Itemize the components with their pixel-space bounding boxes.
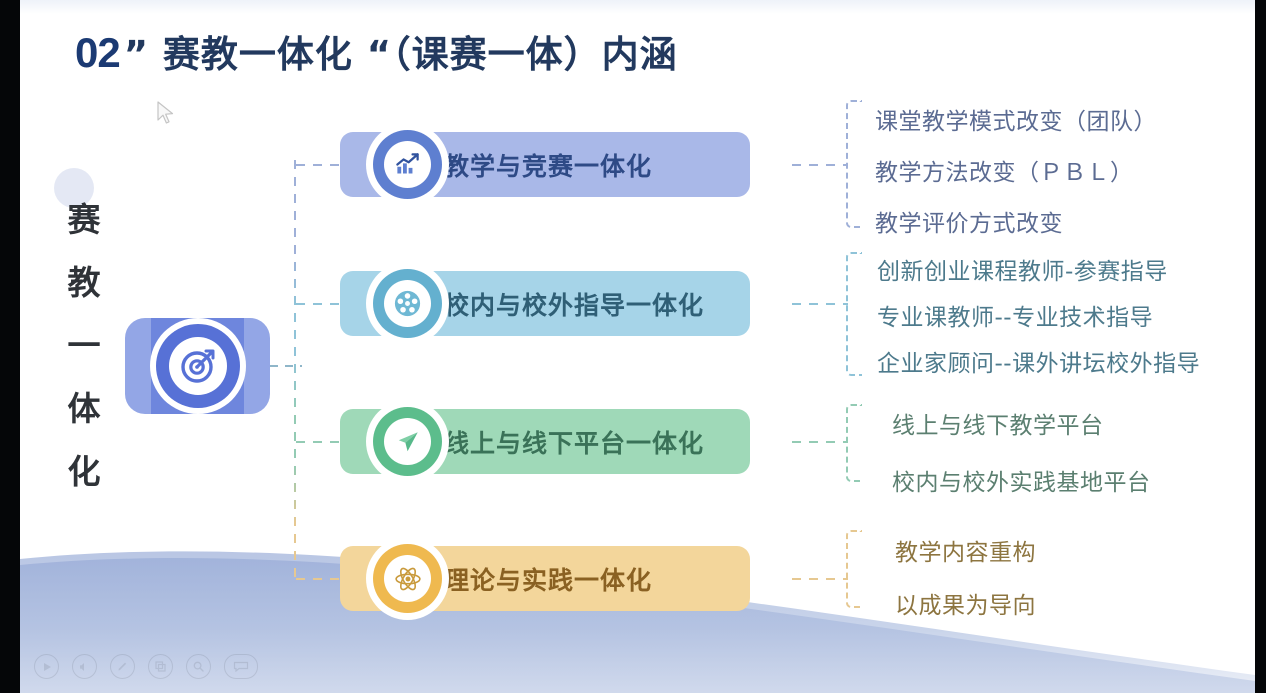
player-right-letterbox: [1255, 0, 1266, 693]
target-icon: [178, 346, 218, 386]
detail-item: 企业家顾问--课外讲坛校外指导: [877, 344, 1200, 378]
branch-card-label: 校内与校外指导一体化: [444, 286, 704, 322]
branch-card-theory-practice[interactable]: 理论与实践一体化: [340, 546, 750, 611]
branch-card-inside-outside-guidance[interactable]: 校内与校外指导一体化: [340, 271, 750, 336]
detail-bracket: [846, 404, 862, 482]
video-player-screen: 02 ” 赛教一体化 “（课赛一体）内涵 赛教一体化: [0, 0, 1266, 693]
comment-icon[interactable]: [224, 654, 258, 679]
player-toolbar[interactable]: [34, 654, 258, 679]
branch-stub-right: [792, 303, 848, 305]
detail-item: 教学内容重构: [895, 533, 1036, 567]
network-dots-icon: [393, 289, 422, 318]
atom-icon: [394, 565, 422, 593]
slide-canvas: 02 ” 赛教一体化 “（课赛一体）内涵 赛教一体化: [20, 0, 1255, 693]
detail-bracket: [846, 530, 862, 608]
mouse-pointer: [156, 101, 175, 126]
volume-icon[interactable]: [72, 654, 97, 679]
detail-item: 线上与线下教学平台: [892, 406, 1151, 440]
page-title: ” 赛教一体化 “（课赛一体）内涵: [124, 24, 678, 78]
branch-badge: [366, 537, 449, 620]
trunk-connector: [294, 160, 296, 582]
badge-core: [384, 555, 431, 602]
branch-card-label: 线上与线下平台一体化: [444, 424, 704, 460]
chart-growth-icon: [394, 151, 421, 178]
badge-core: [384, 418, 431, 465]
detail-bracket: [846, 100, 862, 228]
badge-ring: [373, 544, 442, 613]
branch-stub-left: [296, 441, 346, 443]
detail-item: 专业课教师--专业技术指导: [877, 298, 1200, 332]
detail-item: 校内与校外实践基地平台: [892, 463, 1151, 497]
detail-item: 教学方法改变（ＰＢＬ）: [875, 153, 1157, 187]
play-icon[interactable]: [34, 654, 59, 679]
branch-card-label: 教学与竞赛一体化: [444, 147, 652, 183]
branch-card-online-offline-platform[interactable]: 线上与线下平台一体化: [340, 409, 750, 474]
slide-top-gradient: [20, 0, 1255, 14]
branch-badge: [366, 400, 449, 483]
copy-icon[interactable]: [148, 654, 173, 679]
search-icon[interactable]: [186, 654, 211, 679]
badge-core: [384, 141, 431, 188]
branch-badge: [366, 262, 449, 345]
root-node-icon: [125, 318, 270, 414]
slide-title: 02 ” 赛教一体化 “（课赛一体）内涵: [75, 24, 678, 78]
detail-list-online-offline-platform: 线上与线下教学平台 校内与校外实践基地平台: [892, 406, 1151, 497]
branch-card-label: 理论与实践一体化: [444, 561, 652, 597]
branch-stub-right: [792, 578, 848, 580]
detail-list-teaching-competition: 课堂教学模式改变（团队） 教学方法改变（ＰＢＬ） 教学评价方式改变: [875, 102, 1157, 238]
badge-ring: [373, 407, 442, 476]
slide-title-number: 02: [75, 29, 120, 77]
paper-plane-icon: [395, 429, 421, 455]
branch-stub-left: [296, 303, 346, 305]
player-left-letterbox: [0, 0, 20, 693]
detail-item: 以成果为导向: [895, 586, 1036, 620]
detail-list-inside-outside-guidance: 创新创业课程教师-参赛指导 专业课教师--专业技术指导 企业家顾问--课外讲坛校…: [877, 252, 1200, 378]
branch-stub-right: [792, 164, 848, 166]
branch-stub-right: [792, 441, 848, 443]
branch-stub-left: [296, 164, 346, 166]
detail-item: 教学评价方式改变: [875, 204, 1157, 238]
detail-bracket: [846, 252, 862, 376]
branch-stub-left: [296, 578, 346, 580]
badge-core: [384, 280, 431, 327]
detail-item: 课堂教学模式改变（团队）: [875, 102, 1157, 136]
badge-ring: [373, 269, 442, 338]
root-node-label: 赛教一体化: [56, 188, 112, 503]
branch-card-teaching-competition[interactable]: 教学与竞赛一体化: [340, 132, 750, 197]
detail-list-theory-practice: 教学内容重构 以成果为导向: [895, 533, 1036, 620]
badge-ring: [373, 130, 442, 199]
edit-pencil-icon[interactable]: [110, 654, 135, 679]
branch-badge: [366, 123, 449, 206]
root-connector-stub: [270, 365, 302, 367]
detail-item: 创新创业课程教师-参赛指导: [877, 252, 1200, 286]
